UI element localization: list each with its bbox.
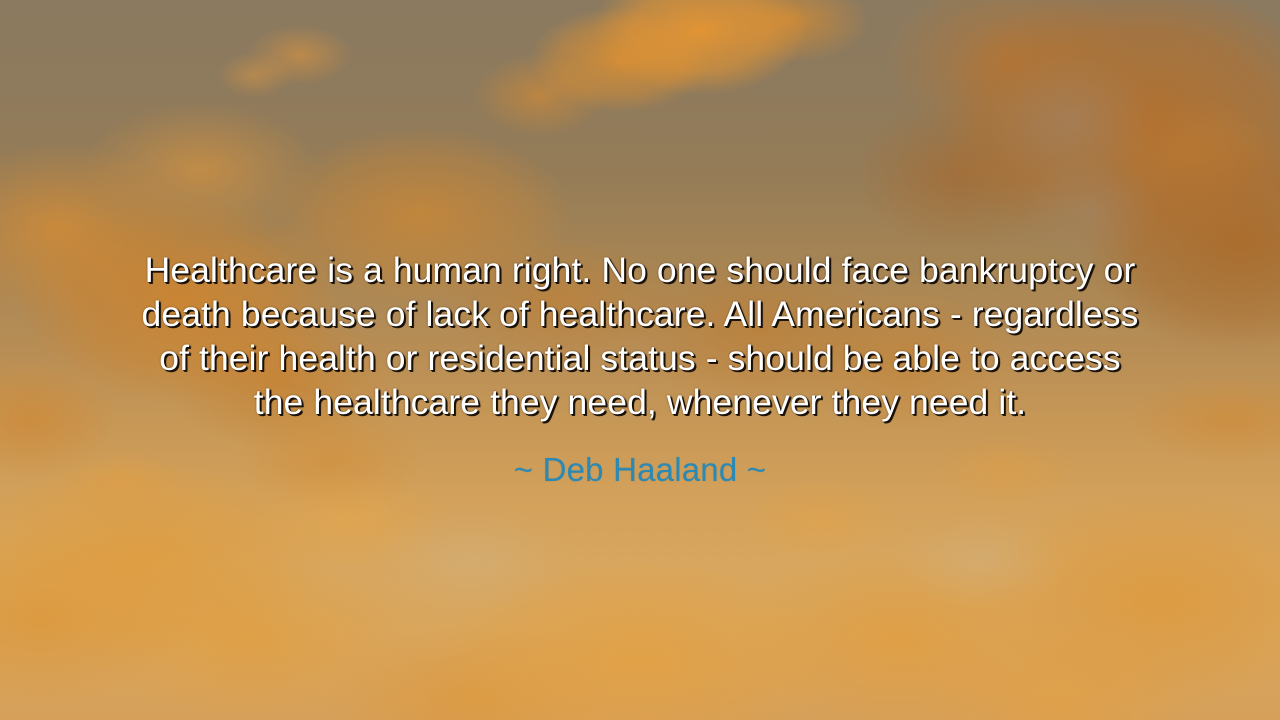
quote-content-area: Healthcare is a human right. No one shou…: [0, 0, 1280, 720]
quote-text-block: Healthcare is a human right. No one shou…: [100, 230, 1180, 424]
quote-line-3: of their health or residential status - …: [100, 336, 1180, 380]
quote-line-1: Healthcare is a human right. No one shou…: [100, 248, 1180, 292]
quote-line-4: the healthcare they need, whenever they …: [100, 380, 1180, 424]
quote-image-canvas: Healthcare is a human right. No one shou…: [0, 0, 1280, 720]
quote-line-2: death because of lack of healthcare. All…: [100, 292, 1180, 336]
quote-attribution: ~ Deb Haaland ~: [514, 450, 767, 490]
